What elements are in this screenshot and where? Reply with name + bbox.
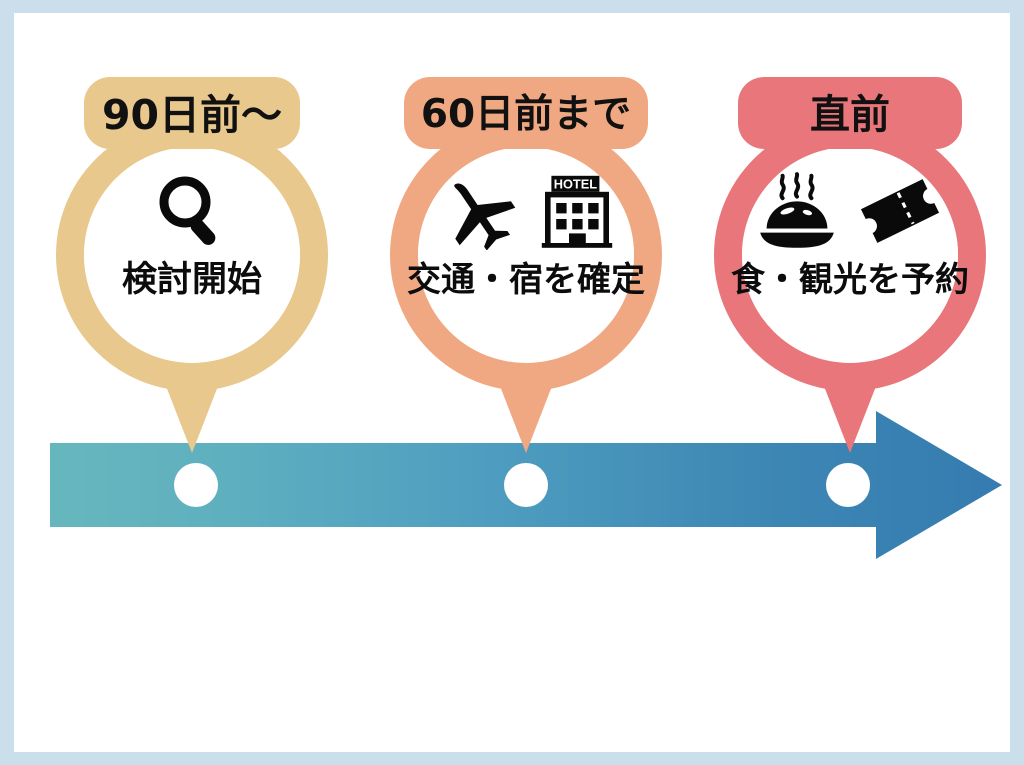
pin-2-label: 交通・宿を確定 (376, 263, 676, 297)
food-dome-icon (756, 171, 838, 251)
svg-text:HOTEL: HOTEL (554, 177, 598, 192)
pin-1-banner-text: 90日前〜 (42, 95, 342, 136)
pin-2-banner-text: 60日前まで (376, 95, 676, 134)
pin-3-icons (700, 165, 1000, 257)
infographic-page: 90日前〜 検討開始 60日前まで (0, 0, 1024, 765)
timeline-pin-1[interactable]: 90日前〜 検討開始 (42, 73, 342, 473)
pin-1-icons (42, 165, 342, 257)
caption-block: 早めの確保で選択肢を残す！ (0, 592, 1024, 702)
pin-3-banner-text: 直前 (700, 95, 1000, 135)
magnifier-icon (152, 171, 232, 251)
ticket-icon (856, 172, 944, 250)
timeline-pin-2[interactable]: 60日前まで HOTEL (376, 73, 676, 473)
pin-1-label: 検討開始 (42, 263, 342, 298)
timeline-pin-3[interactable]: 直前 (700, 73, 1000, 473)
hotel-icon: HOTEL (537, 171, 617, 251)
pin-2-icons: HOTEL (376, 165, 676, 257)
pin-3-label: 食・観光を予約 (700, 263, 1000, 297)
airplane-icon (435, 172, 519, 250)
